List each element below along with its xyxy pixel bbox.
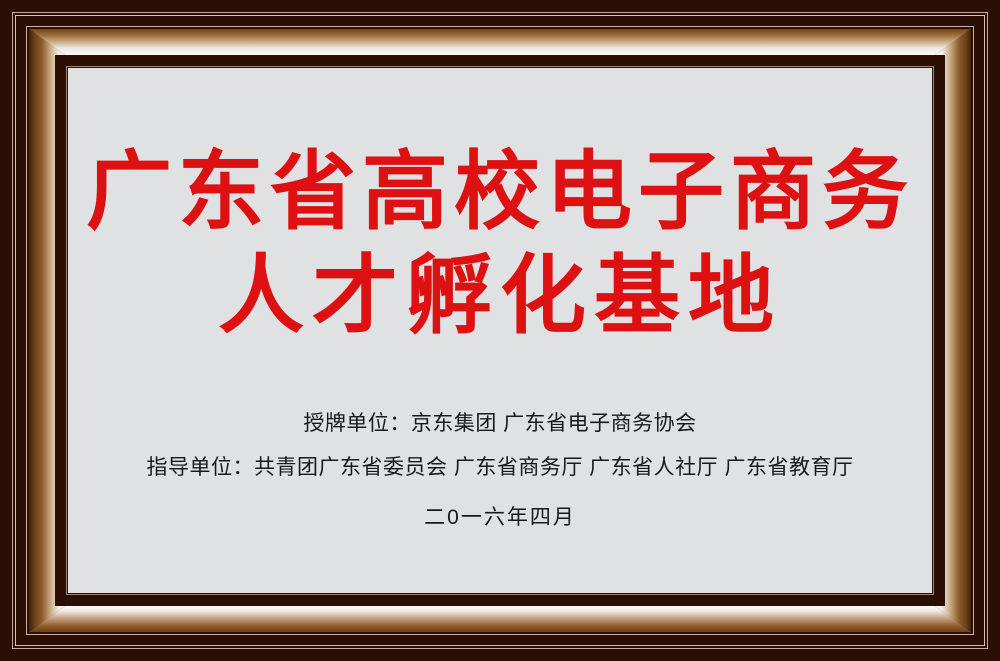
plaque-title-line-2: 人才孵化基地 — [68, 244, 932, 348]
guiding-organizations-line: 指导单位：共青团广东省委员会 广东省商务厅 广东省人社厅 广东省教育厅 — [68, 446, 932, 490]
bevel-bottom-face — [29, 606, 971, 632]
awarding-organizations-line: 授牌单位：京东集团 广东省电子商务协会 — [68, 402, 932, 446]
award-plaque: 广东省高校电子商务 人才孵化基地 授牌单位：京东集团 广东省电子商务协会 指导单… — [0, 0, 1000, 661]
plaque-inner-panel: 广东省高校电子商务 人才孵化基地 授牌单位：京东集团 广东省电子商务协会 指导单… — [68, 68, 932, 593]
plaque-subtext: 授牌单位：京东集团 广东省电子商务协会 指导单位：共青团广东省委员会 广东省商务… — [68, 402, 932, 540]
issue-date-line: 二0一六年四月 — [68, 496, 932, 540]
plaque-title-line-1: 广东省高校电子商务 — [68, 140, 932, 244]
bevel-top-face — [29, 29, 971, 55]
plaque-title: 广东省高校电子商务 人才孵化基地 — [68, 140, 932, 348]
